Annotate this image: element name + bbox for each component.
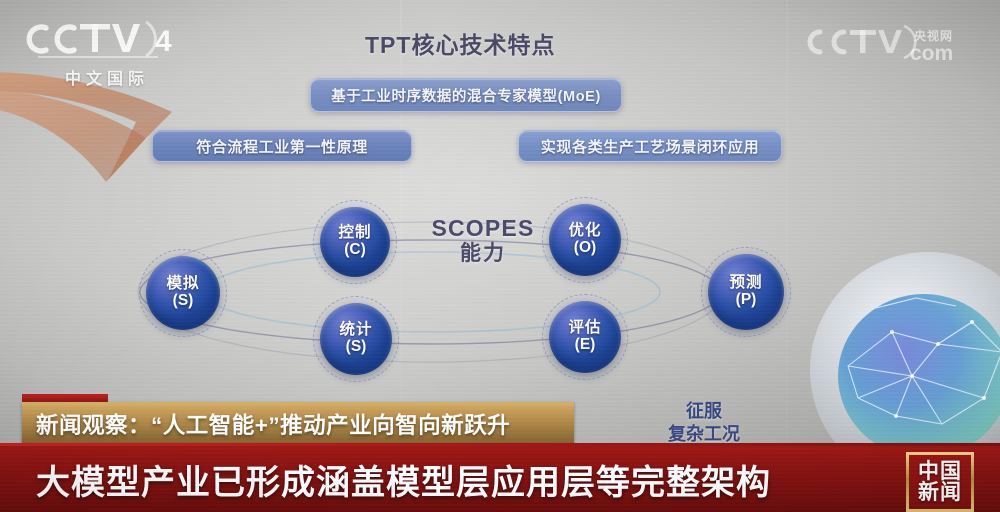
broadcast-frame: TPT核心技术特点 基于工业时序数据的混合专家模型(MoE) 符合流程工业第一性… — [0, 0, 1000, 512]
frame-vignette — [0, 0, 1000, 512]
